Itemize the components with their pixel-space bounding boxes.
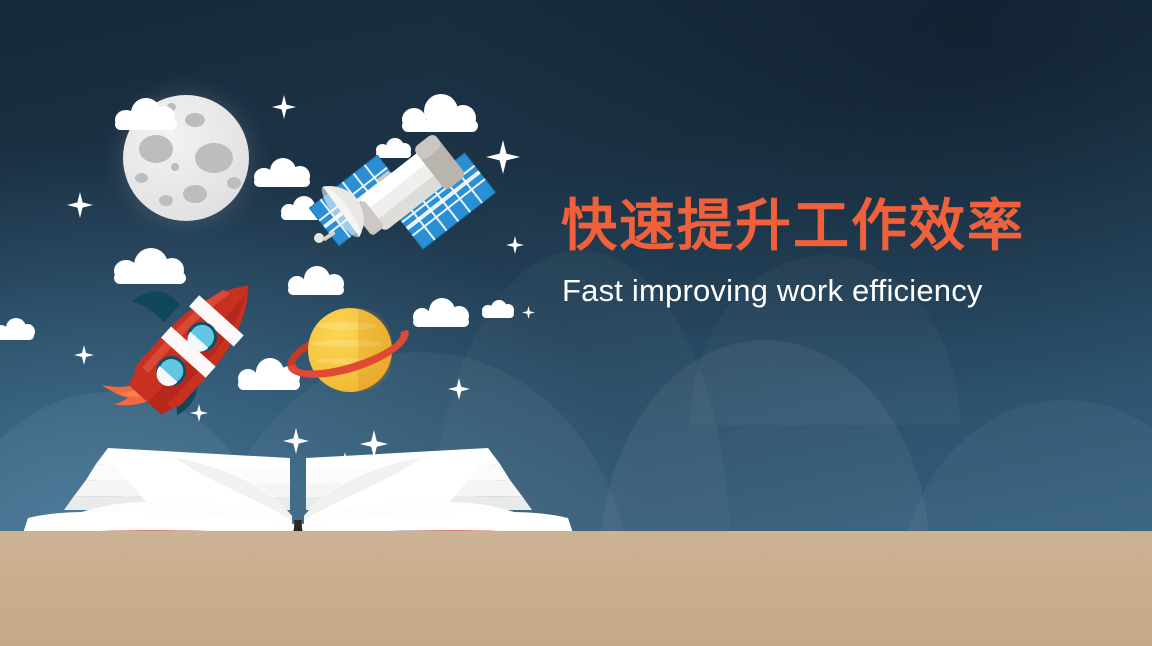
ringed-planet xyxy=(285,298,411,402)
cloud xyxy=(115,98,187,130)
rocket-graphic xyxy=(92,258,292,438)
desk-surface xyxy=(0,531,1152,646)
moon-crater xyxy=(227,177,241,189)
presentation-slide: 快速提升工作效率 Fast improving work efficiency xyxy=(0,0,1152,646)
cloud xyxy=(413,298,477,328)
page-subtitle: Fast improving work efficiency xyxy=(562,273,983,309)
moon-crater xyxy=(135,173,148,183)
moon-crater xyxy=(139,135,173,163)
moon-crater xyxy=(159,195,173,206)
moon-crater xyxy=(183,185,207,203)
satellite xyxy=(300,88,500,274)
page-title: 快速提升工作效率 xyxy=(561,196,1025,258)
moon-crater xyxy=(195,143,233,173)
rocket xyxy=(92,258,292,438)
moon-crater xyxy=(185,113,205,127)
cloud xyxy=(482,300,518,318)
moon-crater xyxy=(171,163,179,171)
cloud xyxy=(0,318,40,340)
satellite-graphic xyxy=(300,88,500,278)
